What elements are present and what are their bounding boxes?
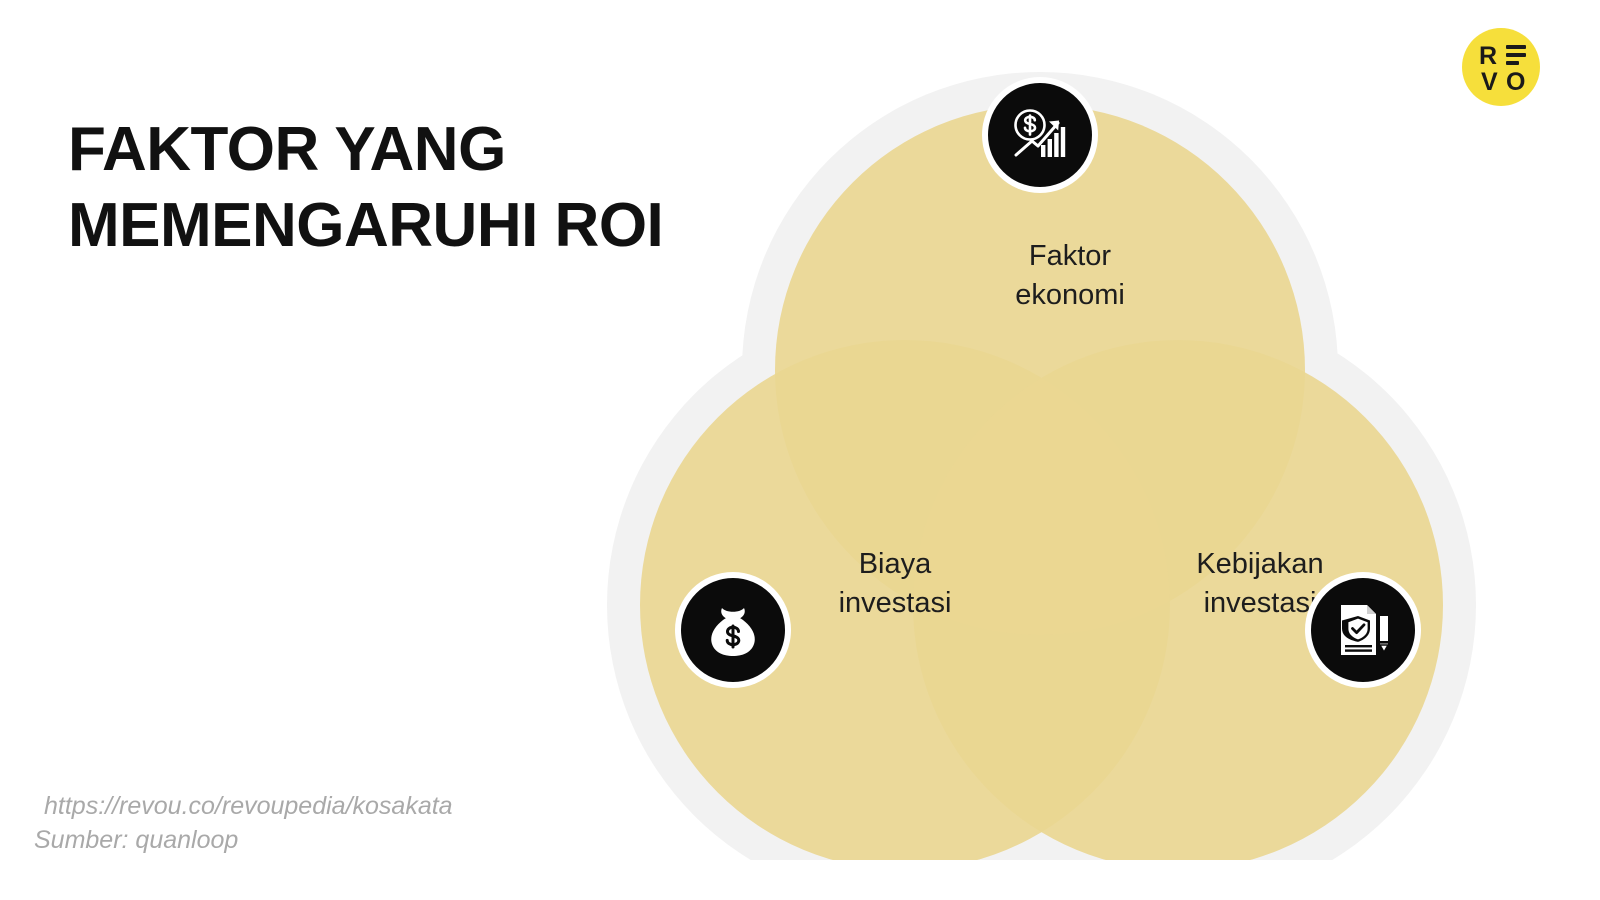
badge-faktor-ekonomi bbox=[982, 77, 1098, 193]
badge-kebijakan-investasi bbox=[1305, 572, 1421, 688]
badge-biaya-investasi bbox=[675, 572, 791, 688]
logo-letter-o: O bbox=[1506, 70, 1525, 95]
footer: https://revou.co/revoupedia/kosakata Sum… bbox=[34, 790, 453, 858]
policy-document-shield-pencil-icon bbox=[1311, 578, 1415, 682]
logo-letter-e-icon bbox=[1506, 45, 1526, 66]
money-bag-icon bbox=[681, 578, 785, 682]
venn-sets bbox=[640, 105, 1443, 860]
venn-label-left: Biaya investasi bbox=[775, 545, 1015, 622]
money-growth-chart-icon bbox=[988, 83, 1092, 187]
venn-diagram: Faktor ekonomi Biaya investasi Kebijakan… bbox=[600, 30, 1500, 860]
slide-canvas: FAKTOR YANG MEMENGARUHI ROI R V O Faktor… bbox=[0, 0, 1600, 900]
venn-label-top: Faktor ekonomi bbox=[950, 237, 1190, 314]
source-url[interactable]: https://revou.co/revoupedia/kosakata bbox=[34, 790, 453, 824]
source-credit: Sumber: quanloop bbox=[34, 824, 453, 858]
